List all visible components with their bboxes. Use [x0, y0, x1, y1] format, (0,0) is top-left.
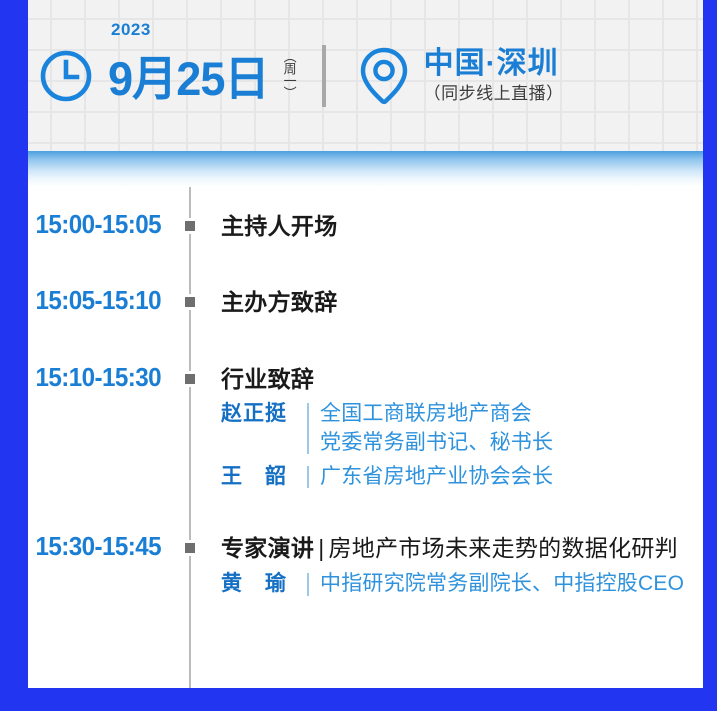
session-time: 15:10-15:30 — [28, 364, 178, 492]
event-date: 9月25日 — [108, 55, 269, 102]
schedule-row: 15:05-15:10 主办方致辞 — [28, 287, 703, 318]
speaker-role-line: 中指研究院常务副院长、中指控股CEO — [320, 570, 684, 598]
schedule-row: 15:00-15:05 主持人开场 — [28, 211, 703, 242]
timeline-marker — [182, 371, 198, 387]
timeline-marker — [182, 294, 198, 310]
speaker-divider — [307, 573, 309, 595]
session-title: 主持人开场 — [221, 211, 703, 242]
session-title: 主办方致辞 — [221, 287, 703, 318]
session-time: 15:05-15:10 — [28, 287, 178, 318]
event-date-block: 2023 9月25日 （周一） — [38, 48, 296, 104]
speaker-name: 王 韶 — [221, 463, 307, 491]
speaker-name: 赵正挺 — [221, 400, 307, 428]
speaker-role: 中指研究院常务副院长、中指控股CEO — [320, 570, 684, 598]
event-year: 2023 — [111, 20, 151, 40]
session-title-rest: 房地产市场未来走势的数据化研判 — [328, 535, 678, 561]
session-title: 专家演讲|房地产市场未来走势的数据化研判 — [221, 533, 703, 564]
header-gradient-divider — [28, 151, 703, 187]
event-header: 2023 9月25日 （周一） 中国·深圳 （ — [28, 0, 703, 151]
event-place-block: 中国·深圳 （同步线上直播） — [356, 45, 564, 107]
speaker-entry: 王 韶 广东省房地产业协会会长 — [221, 463, 703, 491]
timeline-marker — [182, 540, 198, 556]
session-title-bold: 专家演讲 — [221, 535, 314, 561]
timeline-marker — [182, 218, 198, 234]
session-time: 15:30-15:45 — [28, 533, 178, 598]
speaker-divider — [307, 403, 309, 454]
event-place: 中国·深圳 — [424, 47, 564, 81]
session-title: 行业致辞 — [221, 364, 703, 395]
speaker-entry: 赵正挺 全国工商联房地产商会 党委常务副书记、秘书长 — [221, 400, 703, 457]
speaker-role-line: 广东省房地产业协会会长 — [320, 463, 553, 491]
speaker-role-line: 全国工商联房地产商会 — [320, 400, 553, 428]
event-place-note: （同步线上直播） — [424, 83, 564, 104]
speaker-entry: 黄 瑜 中指研究院常务副院长、中指控股CEO — [221, 570, 703, 598]
poster-root: 2023 9月25日 （周一） 中国·深圳 （ — [0, 0, 717, 711]
session-title-separator: | — [318, 535, 324, 561]
session-time: 15:00-15:05 — [28, 211, 178, 242]
event-weekday: （周一） — [282, 50, 295, 98]
speaker-role: 广东省房地产业协会会长 — [320, 463, 553, 491]
schedule-list: 15:00-15:05 主持人开场 15:05-15:10 主办方致辞 15:1… — [28, 187, 703, 688]
speaker-role: 全国工商联房地产商会 党委常务副书记、秘书长 — [320, 400, 553, 457]
header-divider — [322, 45, 326, 107]
speaker-divider — [307, 466, 309, 488]
speaker-name: 黄 瑜 — [221, 570, 307, 598]
schedule-row: 15:10-15:30 行业致辞 赵正挺 全国工商联房地产商会 党委常务副书记、… — [28, 364, 703, 492]
speaker-role-line: 党委常务副书记、秘书长 — [320, 429, 553, 457]
poster-canvas: 2023 9月25日 （周一） 中国·深圳 （ — [28, 0, 703, 688]
clock-icon — [38, 48, 94, 104]
location-pin-icon — [356, 45, 412, 107]
schedule-row: 15:30-15:45 专家演讲|房地产市场未来走势的数据化研判 黄 瑜 中指研… — [28, 533, 703, 598]
